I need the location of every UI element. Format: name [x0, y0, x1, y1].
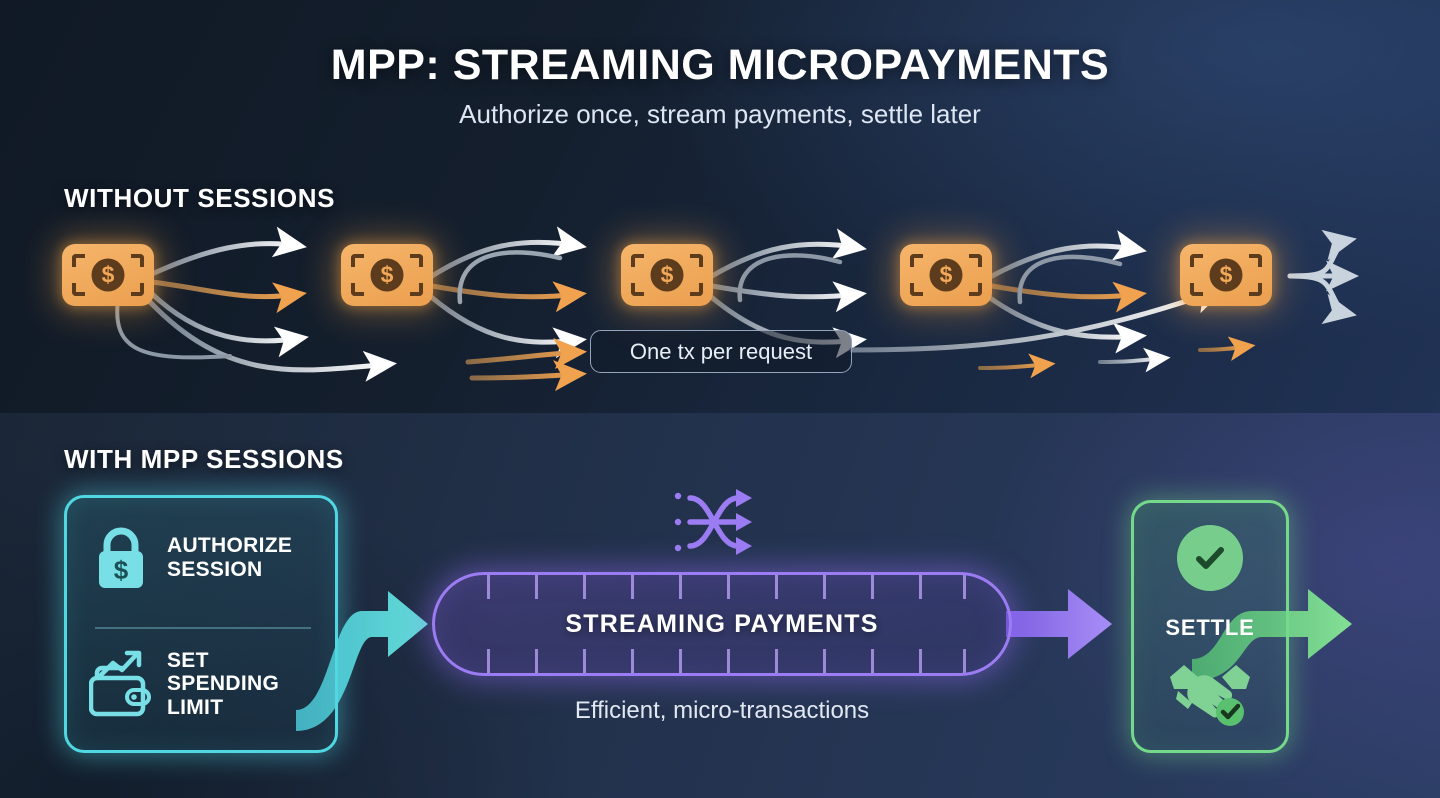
settle-panel[interactable]: SETTLE — [1131, 500, 1289, 753]
capsule-label: STREAMING PAYMENTS — [565, 610, 878, 639]
settle-label: SETTLE — [1134, 615, 1286, 641]
purple-flow-arrow — [1006, 589, 1112, 659]
wallet-trend-icon — [89, 648, 153, 720]
svg-text:$: $ — [114, 555, 129, 585]
capsule-caption: Efficient, micro-transactions — [432, 697, 1012, 725]
check-circle-icon — [1177, 525, 1243, 591]
panel-row-label: SET SPENDING LIMIT — [167, 649, 279, 720]
dollar-icon: $ — [92, 259, 125, 292]
money-node-5: $ — [1180, 244, 1272, 306]
panel-divider — [95, 627, 311, 629]
dollar-icon: $ — [371, 259, 404, 292]
money-node-4: $ — [900, 244, 992, 306]
panel-row-label: AUTHORIZE SESSION — [167, 534, 292, 581]
money-node-1: $ — [62, 244, 154, 306]
streaming-payments-capsule[interactable]: STREAMING PAYMENTS — [432, 572, 1012, 676]
infographic-canvas: MPP: STREAMING MICROPAYMENTS Authorize o… — [0, 0, 1440, 798]
panel-row-authorize-session[interactable]: $ AUTHORIZE SESSION — [89, 524, 292, 592]
page-title: MPP: STREAMING MICROPAYMENTS — [0, 41, 1440, 90]
lock-dollar-icon: $ — [89, 524, 153, 592]
shuffle-routing-icon — [672, 488, 768, 556]
money-node-2: $ — [341, 244, 433, 306]
dollar-icon: $ — [930, 259, 963, 292]
money-node-3: $ — [621, 244, 713, 306]
one-tx-per-request-pill: One tx per request — [590, 330, 852, 373]
authorize-session-panel[interactable]: $ AUTHORIZE SESSION SET SPENDING LIMIT — [64, 495, 338, 753]
dollar-icon: $ — [1210, 259, 1243, 292]
page-subtitle: Authorize once, stream payments, settle … — [0, 99, 1440, 130]
panel-row-set-spending-limit[interactable]: SET SPENDING LIMIT — [89, 648, 279, 720]
handshake-check-icon — [1168, 655, 1252, 727]
dollar-icon: $ — [651, 259, 684, 292]
